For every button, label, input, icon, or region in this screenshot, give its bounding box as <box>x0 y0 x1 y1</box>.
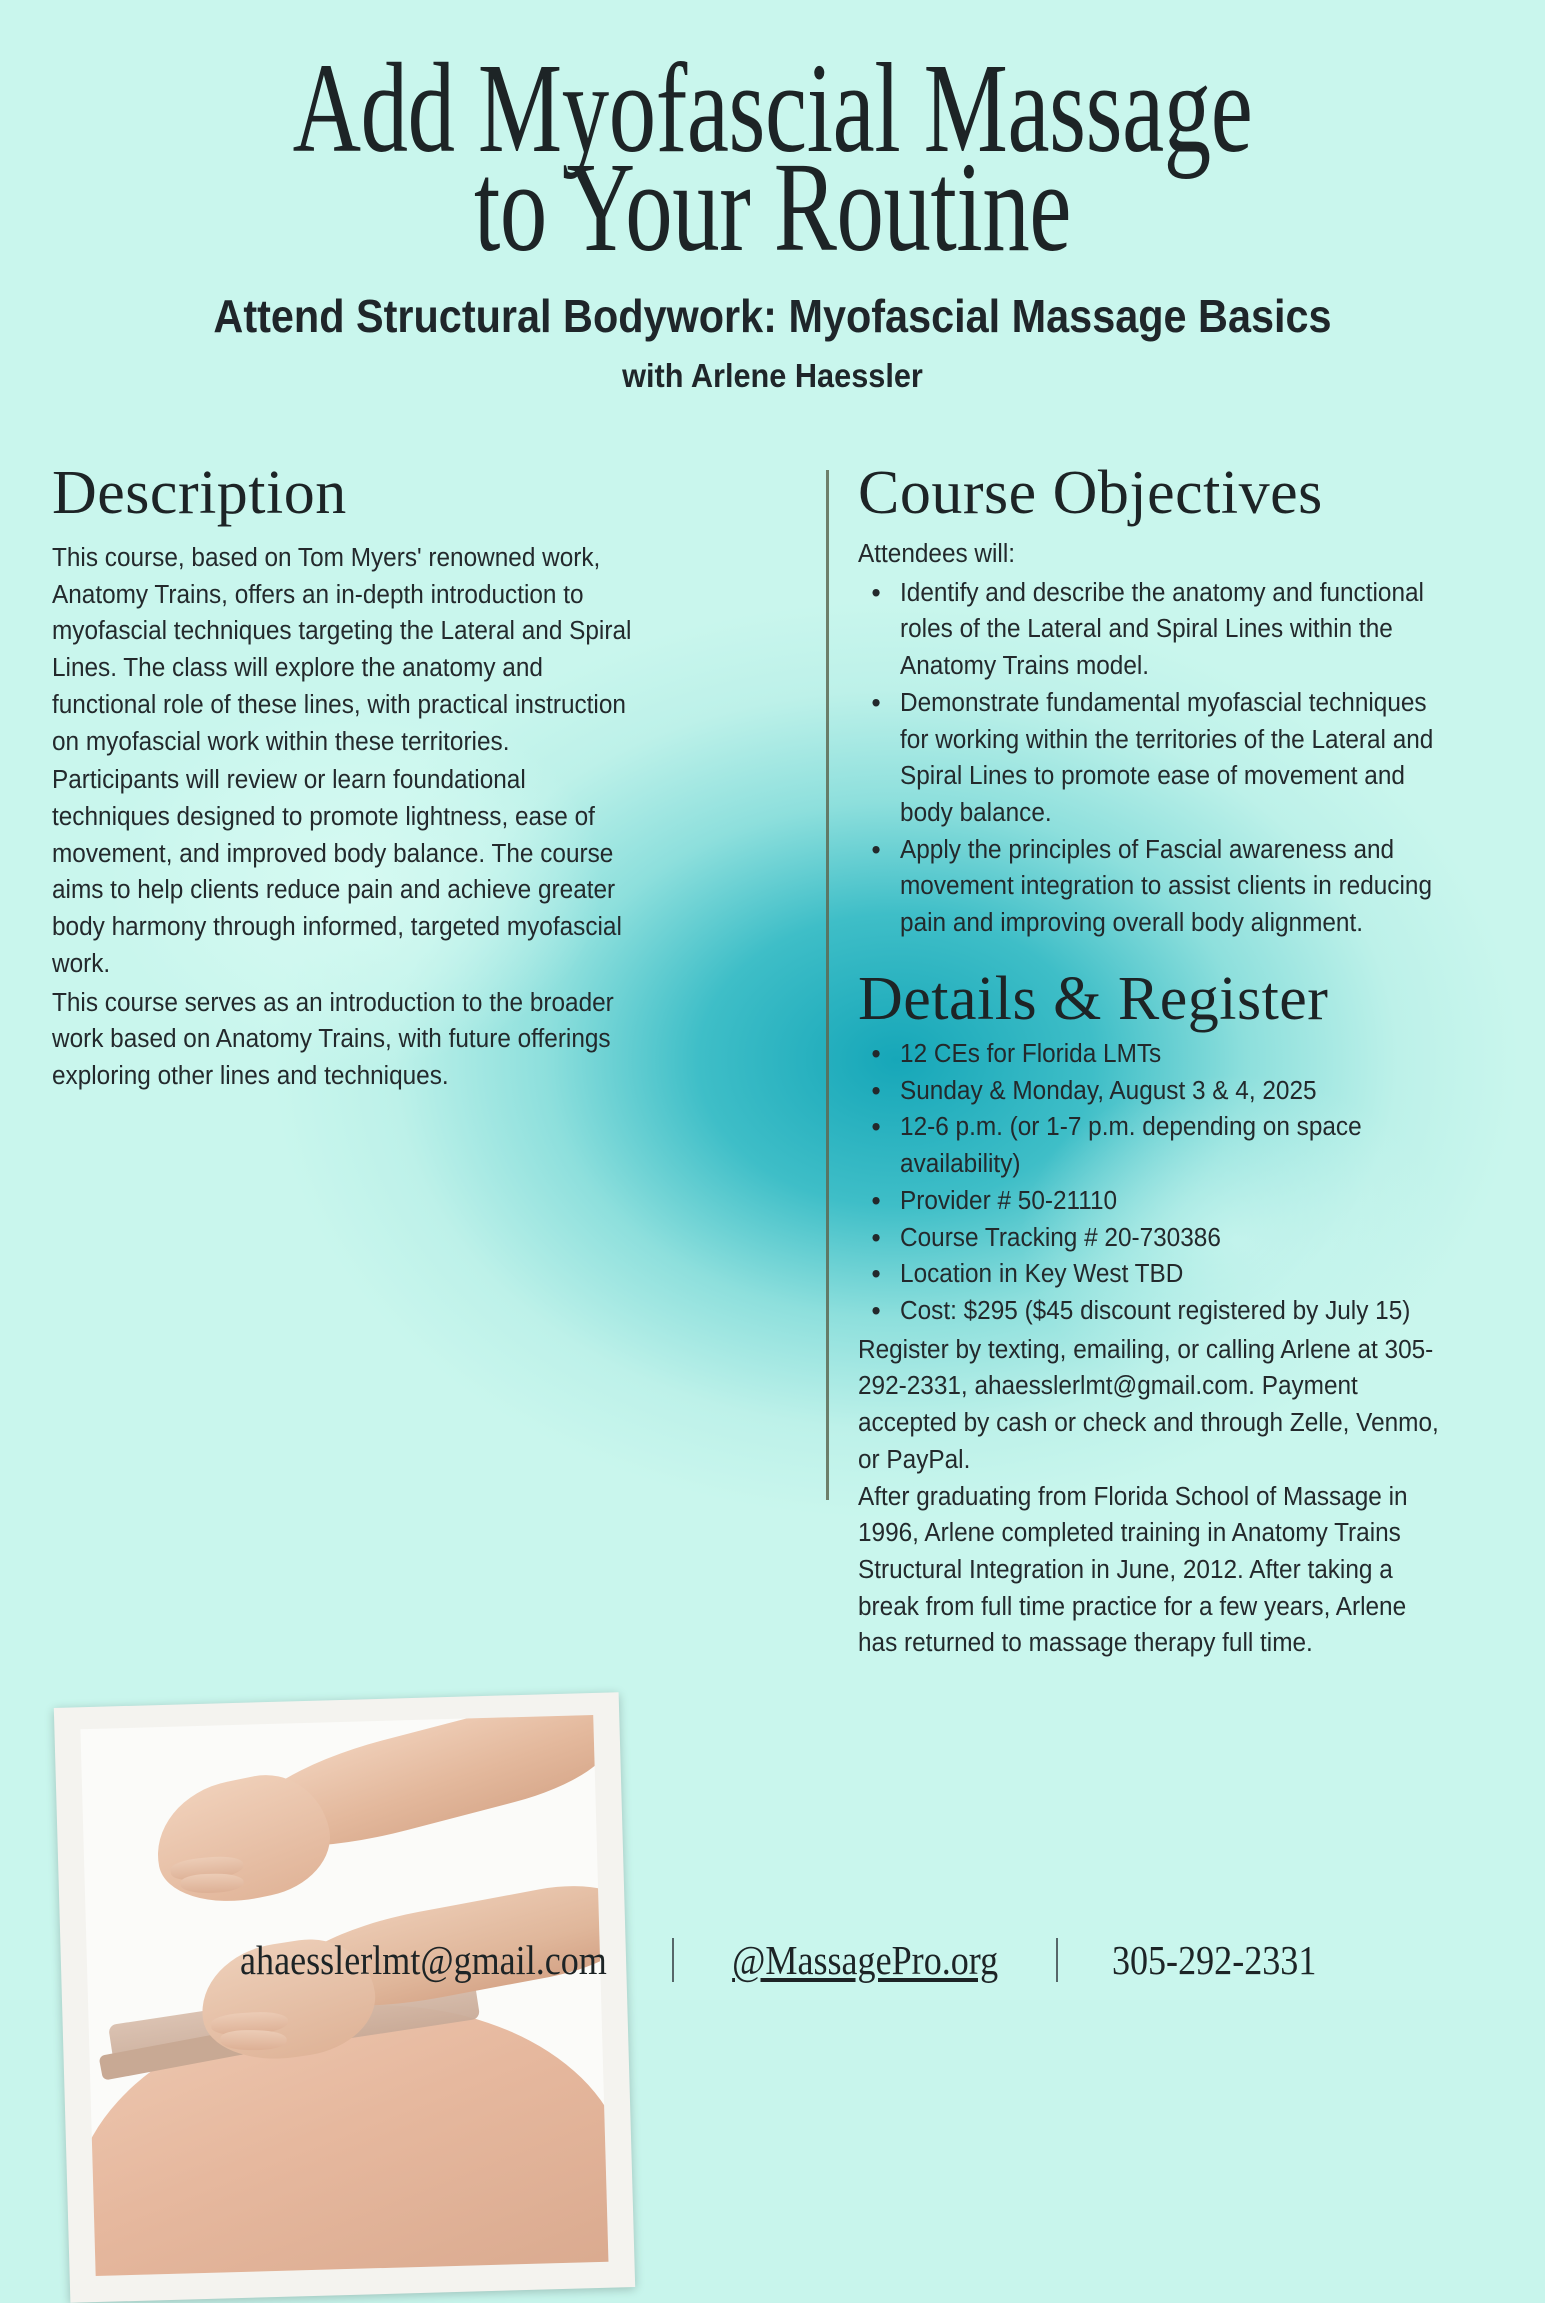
presenter-name: with Arlene Haessler <box>54 357 1491 395</box>
list-item: 12-6 p.m. (or 1-7 p.m. depending on spac… <box>858 1109 1450 1182</box>
massage-photo <box>54 1692 635 2303</box>
registration-body: Register by texting, emailing, or callin… <box>858 1332 1478 1662</box>
flyer-header: Add Myofascial Massage to Your Routine A… <box>0 0 1545 395</box>
registration-paragraph: Register by texting, emailing, or callin… <box>858 1332 1450 1479</box>
objectives-list: Identify and describe the anatomy and fu… <box>858 575 1478 942</box>
footer-separator <box>672 1938 674 1982</box>
footer-website[interactable]: @MassagePro.org <box>726 1936 1003 1984</box>
subtitle: Attend Structural Bodywork: Myofascial M… <box>77 289 1468 343</box>
description-heading: Description <box>52 462 662 524</box>
page-title: Add Myofascial Massage to Your Routine <box>0 52 1545 263</box>
list-item: Apply the principles of Fascial awarenes… <box>858 832 1450 942</box>
objectives-lead: Attendees will: <box>858 536 1450 573</box>
details-heading: Details & Register <box>858 968 1478 1030</box>
description-column: Description This course, based on Tom My… <box>52 462 662 1097</box>
objectives-and-details-column: Course Objectives Attendees will: Identi… <box>858 462 1478 1662</box>
list-item: Provider # 50-21110 <box>858 1183 1450 1220</box>
list-item: Demonstrate fundamental myofascial techn… <box>858 685 1450 832</box>
description-paragraph: This course, based on Tom Myers' renowne… <box>52 540 635 760</box>
photo-finger <box>220 2029 286 2049</box>
footer-contact-bar: ahaesslerlmt@gmail.com @MassagePro.org 3… <box>0 1936 1545 1984</box>
list-item: 12 CEs for Florida LMTs <box>858 1036 1450 1073</box>
description-body: This course, based on Tom Myers' renowne… <box>52 540 662 1095</box>
footer-separator <box>1056 1938 1058 1982</box>
bio-paragraph: After graduating from Florida School of … <box>858 1479 1450 1663</box>
photo-image <box>80 1715 608 2276</box>
list-item: Identify and describe the anatomy and fu… <box>858 575 1450 685</box>
column-divider <box>826 470 829 1500</box>
details-list: 12 CEs for Florida LMTs Sunday & Monday,… <box>858 1036 1478 1330</box>
footer-phone[interactable]: 305-292-2331 <box>1107 1936 1322 1984</box>
description-paragraph: Participants will review or learn founda… <box>52 762 635 982</box>
objectives-heading: Course Objectives <box>858 462 1478 524</box>
photo-finger <box>181 1872 244 1893</box>
list-item: Sunday & Monday, August 3 & 4, 2025 <box>858 1073 1450 1110</box>
footer-email[interactable]: ahaesslerlmt@gmail.com <box>234 1936 611 1984</box>
list-item: Location in Key West TBD <box>858 1256 1450 1293</box>
title-line-2: to Your Routine <box>201 151 1344 264</box>
description-paragraph: This course serves as an introduction to… <box>52 985 635 1095</box>
list-item: Cost: $295 ($45 discount registered by J… <box>858 1293 1450 1330</box>
list-item: Course Tracking # 20-730386 <box>858 1220 1450 1257</box>
